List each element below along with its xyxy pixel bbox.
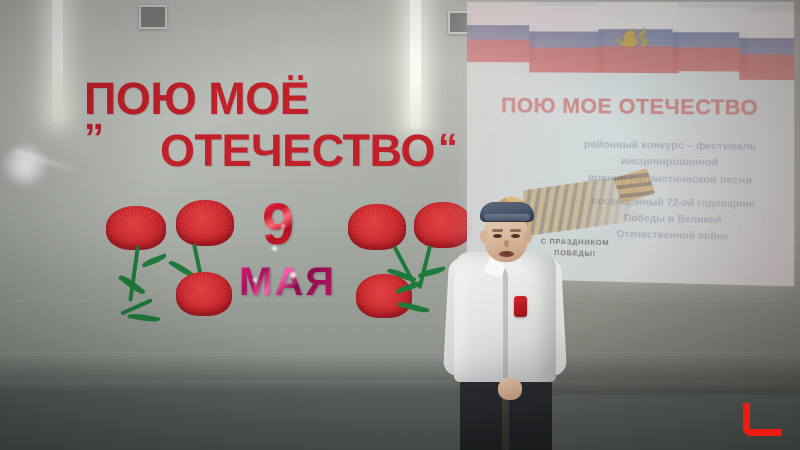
red-ribbon-badge bbox=[514, 296, 527, 317]
fluorescent-tube-light-right bbox=[410, 0, 421, 129]
glitter-sparkle bbox=[253, 278, 257, 282]
pilotka-cap bbox=[480, 202, 534, 222]
eyebrow-right bbox=[510, 229, 521, 232]
russian-flag bbox=[739, 12, 794, 80]
russian-flag bbox=[672, 8, 747, 72]
boy-performer bbox=[440, 196, 572, 450]
paper-carnation bbox=[356, 274, 412, 318]
slide-subtitle-line-1: районный конкурс – фестиваль bbox=[556, 136, 786, 155]
flag-row: ☙ bbox=[467, 2, 794, 76]
date-number-nine: 9 bbox=[262, 196, 294, 254]
eyebrow-left bbox=[492, 229, 503, 232]
mouth-singing bbox=[499, 251, 514, 257]
date-month-may: МАЯ bbox=[239, 262, 336, 302]
nose bbox=[504, 240, 509, 247]
wall-title-line-1: ПОЮ МОЁ bbox=[84, 76, 309, 121]
trouser-leg-gap bbox=[502, 394, 509, 450]
fluorescent-tube-light-left bbox=[52, 0, 63, 122]
ear-right bbox=[524, 230, 532, 243]
glitter-sparkle bbox=[281, 224, 285, 228]
wall-vent-left bbox=[139, 5, 167, 29]
wall-title-close-quote: “ bbox=[438, 128, 458, 168]
corner-bracket-mark-icon bbox=[743, 403, 782, 436]
paper-carnation bbox=[176, 272, 232, 316]
slide-title: ПОЮ МОЕ ОТЕЧЕСТВО bbox=[467, 94, 794, 121]
double-headed-eagle-icon: ☙ bbox=[610, 16, 655, 63]
wall-title-line-2: ОТЕЧЕСТВО bbox=[160, 128, 435, 173]
russian-flag bbox=[529, 6, 604, 73]
glitter-sparkle bbox=[290, 272, 296, 278]
russian-flag bbox=[467, 2, 535, 62]
paper-carnation bbox=[176, 200, 234, 246]
glitter-sparkle bbox=[272, 246, 277, 251]
paper-carnation bbox=[348, 204, 406, 250]
shirt-placket bbox=[503, 266, 508, 378]
clasped-hands bbox=[498, 378, 522, 400]
photo-scene: „ ПОЮ МОЁ ОТЕЧЕСТВО “ 9 МАЯ ☙ ПОЮ МОЕ ОТ… bbox=[0, 0, 800, 450]
ear-left bbox=[480, 230, 488, 243]
paper-carnation bbox=[106, 206, 166, 250]
screen-glare-spot bbox=[2, 142, 48, 188]
eye-right bbox=[511, 234, 520, 238]
eye-left bbox=[493, 234, 502, 238]
